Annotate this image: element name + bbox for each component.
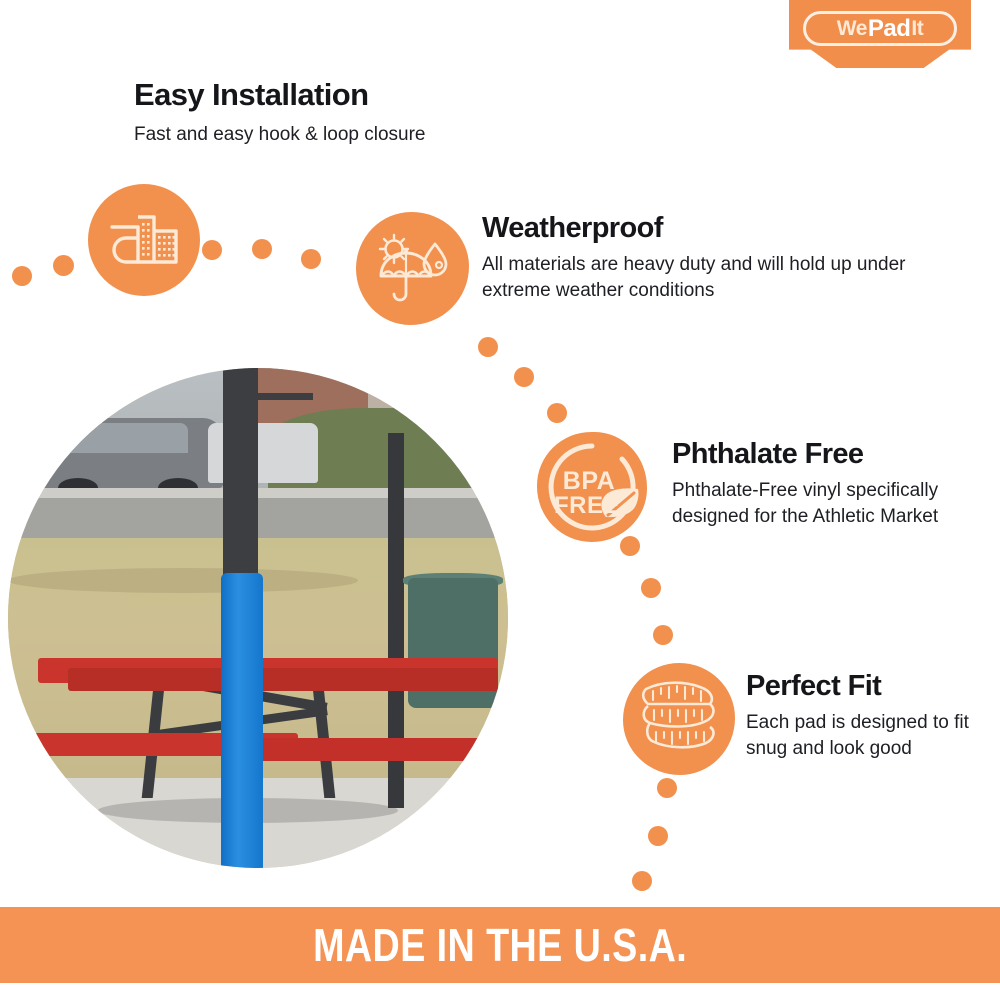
svg-text:FREE: FREE [554, 492, 620, 519]
trail-dot [301, 249, 321, 269]
feature-title: Perfect Fit [746, 671, 981, 701]
photo-picnic-tabletop-far [68, 668, 498, 691]
feature-block-weatherproof: Weatherproof All materials are heavy dut… [482, 213, 912, 303]
measuring-tape-icon [623, 663, 735, 775]
feature-block-easy-installation: Easy Installation Fast and easy hook & l… [134, 79, 554, 147]
feature-block-perfect-fit: Perfect Fit Each pad is designed to fit … [746, 671, 981, 761]
feature-body: Phthalate-Free vinyl specifically design… [672, 478, 992, 529]
trail-dot [641, 578, 661, 598]
trail-dot [202, 240, 222, 260]
photo-road [8, 498, 508, 538]
photo-main-post [223, 368, 258, 588]
logo-text-it: It [911, 18, 923, 39]
made-in-usa-banner: MADE IN THE U.S.A. [0, 907, 1000, 983]
trail-dot [12, 266, 32, 286]
bpa-free-leaf-icon: BPA FREE [537, 432, 647, 542]
logo-text-we: We [837, 18, 867, 39]
photo-blue-pole-pad [221, 573, 264, 868]
product-feature-infographic: We Pad It Easy Installation Fast and eas… [0, 0, 1000, 987]
trail-dot [632, 871, 652, 891]
trail-dot [653, 625, 673, 645]
photo-vehicle-window [58, 423, 188, 453]
logo-text-pad: Pad [867, 17, 912, 41]
brand-logo[interactable]: We Pad It [789, 0, 971, 68]
trail-dot [514, 367, 534, 387]
trail-dot [657, 778, 677, 798]
made-in-usa-text: MADE IN THE U.S.A. [313, 918, 687, 972]
trail-dot [620, 536, 640, 556]
feature-title: Phthalate Free [672, 439, 992, 469]
photo-post-arm [253, 393, 313, 400]
product-photo [8, 368, 508, 868]
feature-body: Fast and easy hook & loop closure [134, 122, 554, 147]
photo-scene [8, 368, 508, 868]
photo-grass-patch [8, 568, 358, 593]
feature-title: Easy Installation [134, 79, 554, 112]
trail-dot [252, 239, 272, 259]
photo-bench [238, 738, 498, 761]
feature-title: Weatherproof [482, 213, 912, 243]
trail-dot [478, 337, 498, 357]
umbrella-sun-raindrop-icon [356, 212, 469, 325]
feature-block-phthalate-free: Phthalate Free Phthalate-Free vinyl spec… [672, 439, 992, 529]
logo-outline-box: We Pad It [803, 11, 957, 46]
svg-text:BPA: BPA [563, 467, 615, 495]
trail-dot [53, 255, 74, 276]
trail-dot [648, 826, 668, 846]
velcro-hook-loop-icon [88, 184, 200, 296]
feature-body: Each pad is designed to fit snug and loo… [746, 710, 981, 761]
feature-body: All materials are heavy duty and will ho… [482, 252, 912, 303]
trail-dot [547, 403, 567, 423]
